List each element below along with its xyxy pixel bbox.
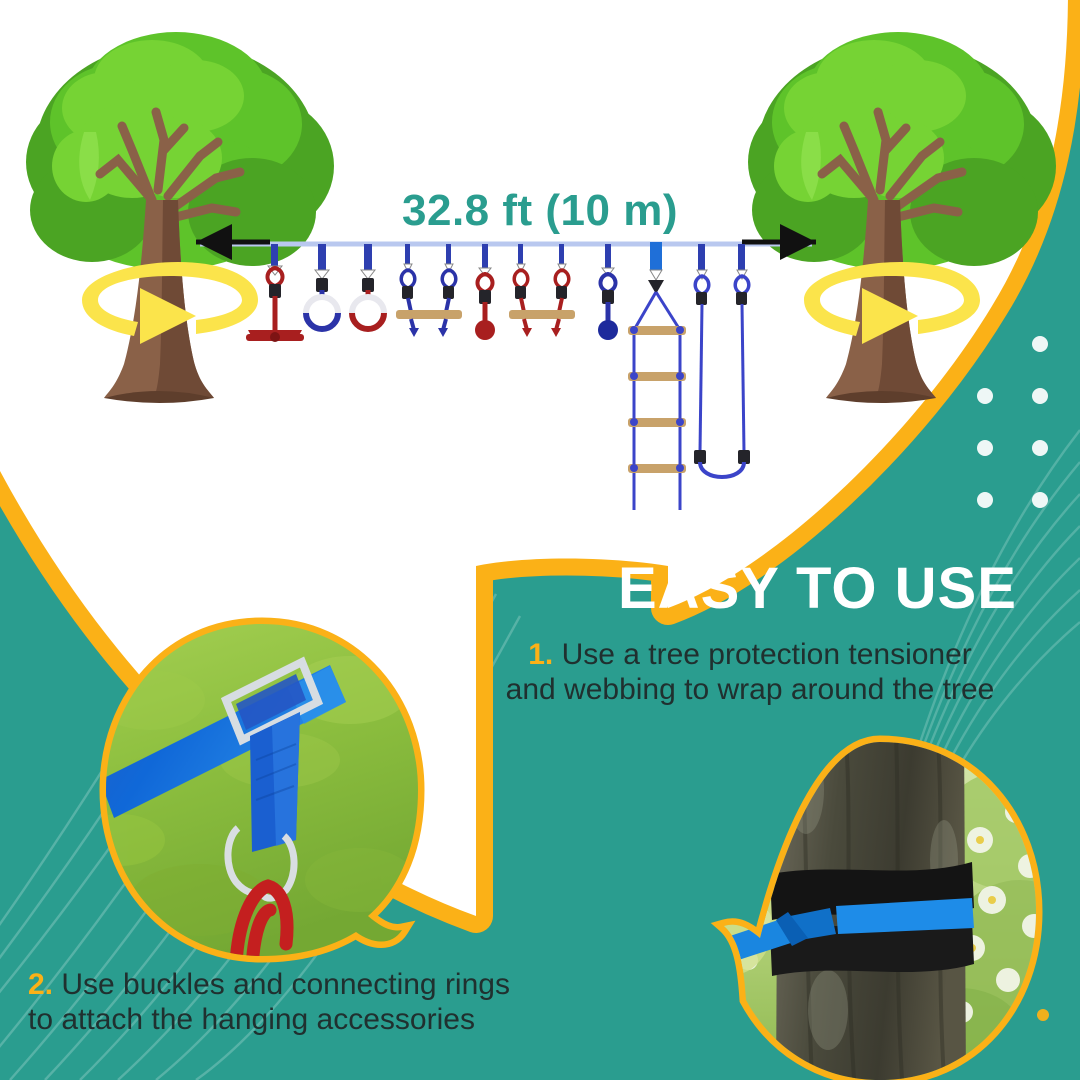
page-title: EASY TO USE bbox=[618, 560, 1078, 618]
slackline-length-label: 32.8 ft (10 m) bbox=[0, 186, 1080, 236]
step-1-text: 1. Use a tree protection tensioner and w… bbox=[430, 638, 1070, 708]
step-1-number: 1. bbox=[528, 638, 553, 671]
step-1-line-1: Use a tree protection tensioner bbox=[562, 638, 972, 671]
step-2-number: 2. bbox=[28, 968, 53, 1001]
step-2-line-1: Use buckles and connecting rings bbox=[61, 968, 510, 1001]
step-2-text: 2. Use buckles and connecting rings to a… bbox=[28, 968, 688, 1038]
photo-tree-protector bbox=[0, 0, 1080, 1080]
poster-canvas: 32.8 ft (10 m) EASY TO USE 1. Use a tree… bbox=[0, 0, 1080, 1080]
step-2-line-2: to attach the hanging accessories bbox=[28, 1003, 475, 1036]
step-1-line-2: and webbing to wrap around the tree bbox=[506, 673, 995, 706]
